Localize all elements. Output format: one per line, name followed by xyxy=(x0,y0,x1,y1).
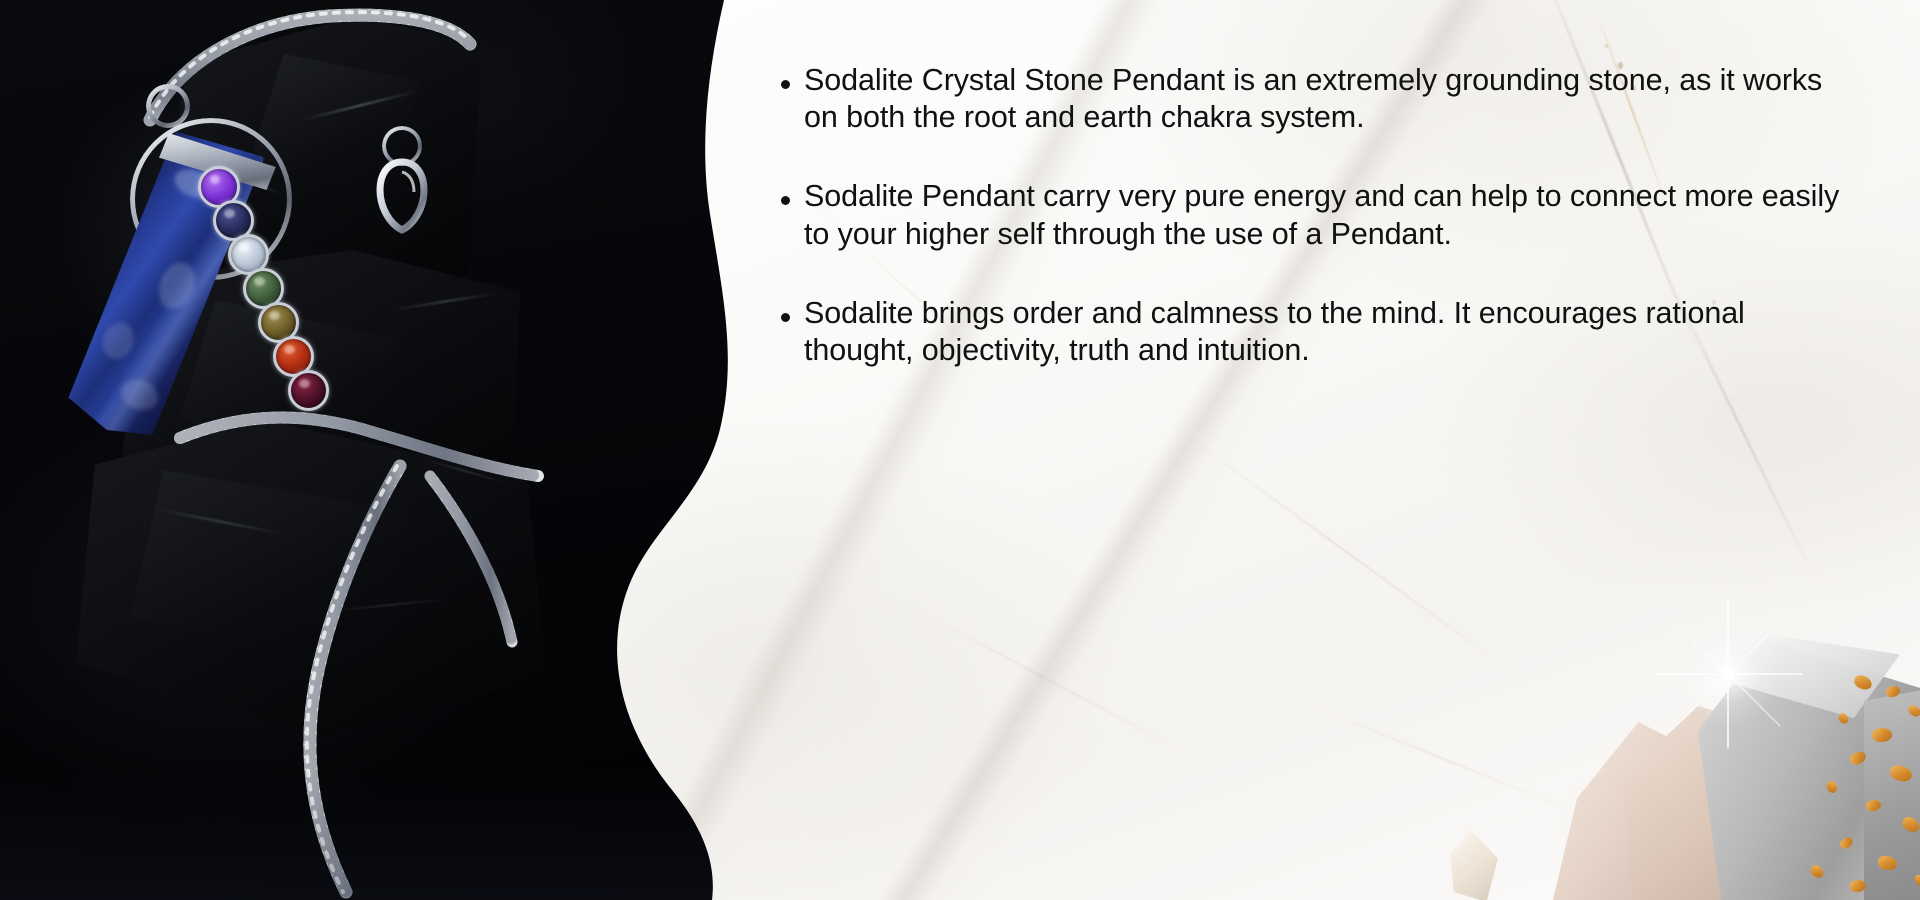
list-item: Sodalite Crystal Stone Pendant is an ext… xyxy=(778,62,1848,136)
bullet-dot-icon xyxy=(781,313,790,322)
marble-vein xyxy=(900,600,1201,761)
crystal-shard xyxy=(1450,830,1498,900)
product-description-list: Sodalite Crystal Stone Pendant is an ext… xyxy=(778,62,1848,369)
product-banner: Sodalite Crystal Stone Pendant is an ext… xyxy=(0,0,1920,900)
product-photograph xyxy=(0,0,760,900)
decorative-crystal xyxy=(1250,500,1920,900)
bullet-text: Sodalite Pendant carry very pure energy … xyxy=(804,178,1848,252)
bullet-dot-icon xyxy=(781,196,790,205)
list-item: Sodalite Pendant carry very pure energy … xyxy=(778,178,1848,252)
bullet-dot-icon xyxy=(781,80,790,89)
list-item: Sodalite brings order and calmness to th… xyxy=(778,295,1848,369)
lobster-clasp xyxy=(372,156,432,236)
bullet-text: Sodalite Crystal Stone Pendant is an ext… xyxy=(804,62,1848,136)
surface-reflection xyxy=(0,770,760,900)
marble-speck xyxy=(1605,44,1608,48)
jump-ring xyxy=(146,84,190,128)
bullet-text: Sodalite brings order and calmness to th… xyxy=(804,295,1848,369)
